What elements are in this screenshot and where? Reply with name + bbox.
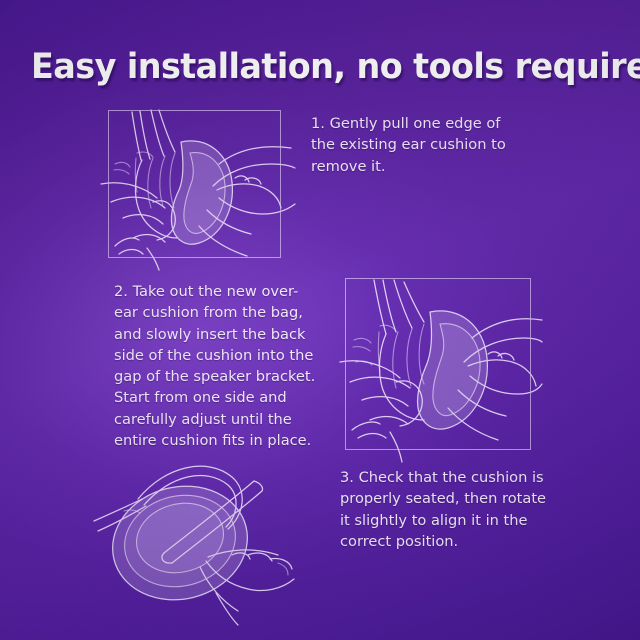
- step-3-line-art: [82, 443, 344, 625]
- step-1-illustration-frame: [108, 110, 281, 258]
- step-3-text: 3. Check that the cushion is properly se…: [340, 467, 558, 552]
- step-2-illustration: [334, 266, 542, 462]
- instruction-poster: Easy installation, no tools required: [0, 0, 640, 640]
- step-3-illustration: [82, 443, 344, 625]
- page-title: Easy installation, no tools required: [31, 45, 594, 89]
- step-1-illustration: [95, 98, 295, 270]
- step-2-illustration-frame: [345, 278, 531, 450]
- step-1-text: 1. Gently pull one edge of the existing …: [311, 113, 526, 177]
- step-2-text: 2. Take out the new over-ear cushion fro…: [114, 281, 319, 451]
